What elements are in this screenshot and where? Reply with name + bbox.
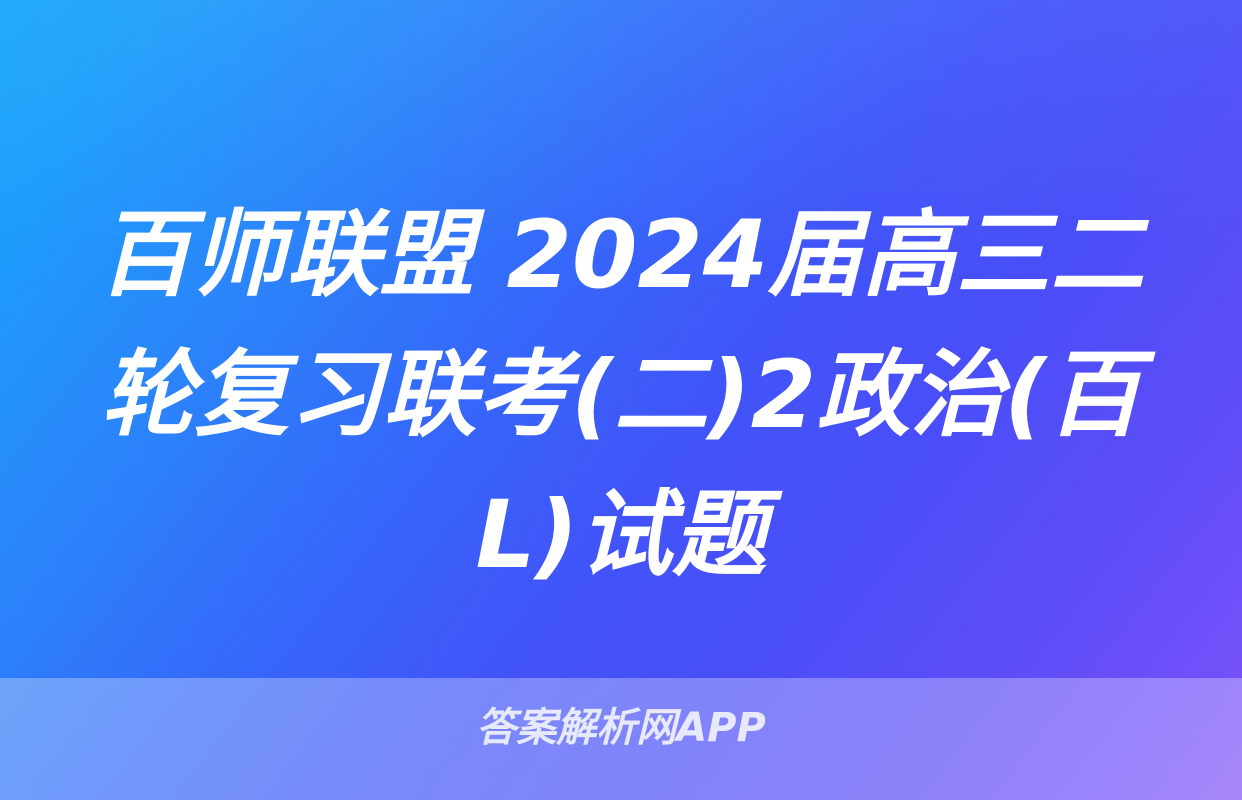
title-block: 百师联盟 2024届高三二轮复习联考(二)2政治(百L)试题: [0, 186, 1242, 606]
app-watermark-label: 答案解析网APP: [476, 708, 766, 748]
page-title: 百师联盟 2024届高三二轮复习联考(二)2政治(百L)试题: [72, 186, 1170, 606]
watermark-row: 答案解析网APP: [0, 708, 1242, 748]
poster-card: 百师联盟 2024届高三二轮复习联考(二)2政治(百L)试题 答案解析网APP: [0, 0, 1242, 800]
